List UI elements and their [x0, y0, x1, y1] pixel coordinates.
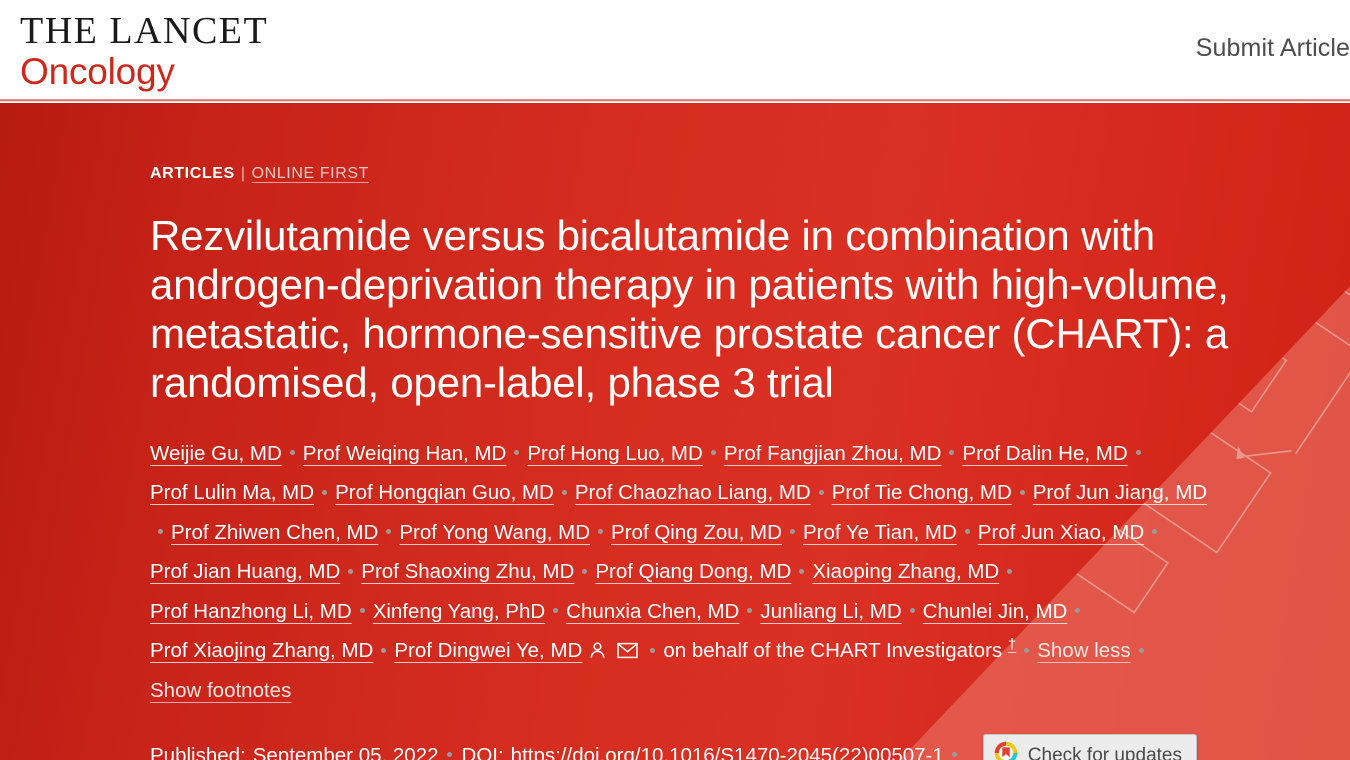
author-link[interactable]: Prof Yong Wang, MD [399, 521, 590, 544]
author-separator-dot [1020, 490, 1025, 495]
author-link[interactable]: Prof Weiqing Han, MD [303, 442, 507, 465]
header-nav: Submit Article [1196, 0, 1350, 63]
crossmark-label: Check for updates [1028, 745, 1182, 760]
submit-article-link[interactable]: Submit Article [1196, 34, 1350, 62]
author-separator-dot [348, 569, 353, 574]
author-separator-dot [790, 529, 795, 534]
author-link[interactable]: Prof Tie Chong, MD [832, 481, 1012, 504]
author-separator-dot [360, 608, 365, 613]
author-separator-dot [711, 450, 716, 455]
author-link[interactable]: Prof Dingwei Ye, MD [394, 639, 582, 662]
author-link[interactable]: Xinfeng Yang, PhD [373, 600, 545, 623]
breadcrumb-section-label: ARTICLES [150, 165, 235, 182]
author-separator-dot [965, 529, 970, 534]
author-separator-dot [381, 648, 386, 653]
author-link[interactable]: Prof Lulin Ma, MD [150, 481, 314, 504]
on-behalf-of-text: on behalf of the CHART Investigators † [663, 639, 1016, 662]
author-separator-dot [582, 569, 587, 574]
author-link[interactable]: Chunxia Chen, MD [566, 600, 739, 623]
author-link[interactable]: Prof Hongqian Guo, MD [335, 481, 554, 504]
site-header: THE LANCET Oncology Submit Article [0, 0, 1350, 103]
author-separator-dot [322, 490, 327, 495]
author-link[interactable]: Prof Dalin He, MD [962, 442, 1127, 465]
author-link[interactable]: Prof Shaoxing Zhu, MD [361, 560, 574, 583]
envelope-icon[interactable] [617, 642, 638, 659]
author-link[interactable]: Prof Hong Luo, MD [527, 442, 702, 465]
author-link[interactable]: Junliang Li, MD [760, 600, 901, 623]
author-separator-dot [799, 569, 804, 574]
author-separator-dot [819, 490, 824, 495]
author-separator-dot [562, 490, 567, 495]
author-link[interactable]: Prof Qing Zou, MD [611, 521, 782, 544]
page-title: Rezvilutamide versus bicalutamide in com… [150, 211, 1245, 408]
show-less-link[interactable]: Show less [1037, 639, 1130, 662]
breadcrumb-online-first-link[interactable]: ONLINE FIRST [252, 165, 369, 182]
author-separator-dot [1075, 608, 1080, 613]
author-separator-dot [386, 529, 391, 534]
show-footnotes-link[interactable]: Show footnotes [150, 679, 291, 702]
breadcrumb-separator: | [241, 165, 246, 182]
author-list-items: Weijie Gu, MDProf Weiqing Han, MDProf Ho… [150, 442, 1207, 702]
article-hero-banner: 351 assessed 654 randomly assigned 218 o… [0, 103, 1350, 760]
brand-title-oncology: Oncology [20, 53, 268, 90]
author-link[interactable]: Chunlei Jin, MD [923, 600, 1068, 623]
author-separator-dot [949, 450, 954, 455]
crossmark-check-for-updates-button[interactable]: Check for updates [983, 734, 1197, 760]
lancet-oncology-logo[interactable]: THE LANCET Oncology [0, 0, 268, 90]
author-separator-dot [650, 648, 655, 653]
author-link[interactable]: Xiaoping Zhang, MD [812, 560, 999, 583]
author-link[interactable]: Weijie Gu, MD [150, 442, 282, 465]
meta-separator-dot-2 [952, 752, 957, 757]
author-separator-dot [158, 529, 163, 534]
author-separator-dot [1136, 450, 1141, 455]
author-link[interactable]: Prof Jian Huang, MD [150, 560, 340, 583]
author-link[interactable]: Prof Jun Jiang, MD [1033, 481, 1207, 504]
author-link[interactable]: Prof Ye Tian, MD [803, 521, 957, 544]
author-separator-dot [290, 450, 295, 455]
author-separator-dot [1024, 648, 1029, 653]
author-separator-dot [598, 529, 603, 534]
brand-title-lancet: THE LANCET [20, 12, 268, 50]
author-separator-dot [1152, 529, 1157, 534]
author-link[interactable]: Prof Jun Xiao, MD [978, 521, 1144, 544]
author-separator-dot [747, 608, 752, 613]
published-label: Published: [150, 744, 246, 760]
footnote-marker[interactable]: † [1008, 636, 1016, 653]
author-separator-dot [1139, 648, 1144, 653]
author-link[interactable]: Prof Qiang Dong, MD [595, 560, 791, 583]
breadcrumb: ARTICLES|ONLINE FIRST [150, 165, 1350, 183]
author-separator-dot [910, 608, 915, 613]
person-icon[interactable] [588, 641, 607, 660]
doi-label: DOI: [462, 744, 504, 760]
crossmark-logo-icon [993, 740, 1019, 760]
author-list: Weijie Gu, MDProf Weiqing Han, MDProf Ho… [150, 434, 1210, 711]
publication-meta: Published: September 05, 2022 DOI: https… [150, 734, 1350, 760]
author-link[interactable]: Prof Fangjian Zhou, MD [724, 442, 942, 465]
hero-content: ARTICLES|ONLINE FIRST Rezvilutamide vers… [0, 103, 1350, 760]
author-link[interactable]: Prof Xiaojing Zhang, MD [150, 639, 373, 662]
published-date: September 05, 2022 [253, 744, 439, 760]
author-link[interactable]: Prof Zhiwen Chen, MD [171, 521, 378, 544]
author-link[interactable]: Prof Chaozhao Liang, MD [575, 481, 811, 504]
author-separator-dot [553, 608, 558, 613]
author-separator-dot [1007, 569, 1012, 574]
article-landing-page: THE LANCET Oncology Submit Article [0, 0, 1350, 760]
author-link[interactable]: Prof Hanzhong Li, MD [150, 600, 352, 623]
doi-link[interactable]: https://doi.org/10.1016/S1470-2045(22)00… [511, 744, 944, 760]
meta-separator-dot [447, 752, 452, 757]
author-separator-dot [514, 450, 519, 455]
